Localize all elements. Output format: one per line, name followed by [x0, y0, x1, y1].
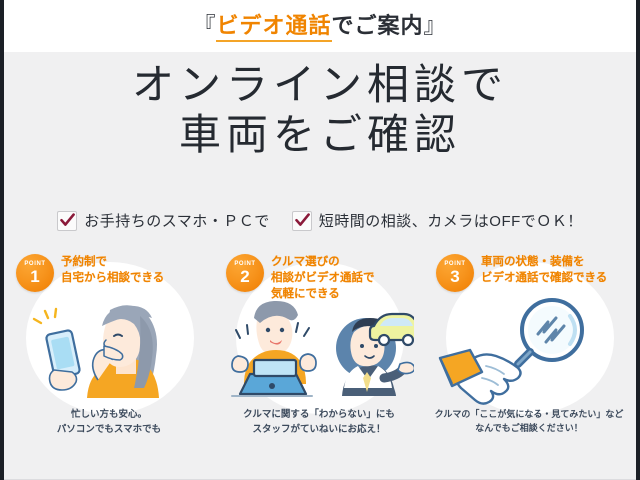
headline-line-2: 車両をご確認 [4, 110, 636, 160]
point-title-3: 車両の状態・装備を ビデオ通話で確認できる [481, 254, 607, 287]
check-icon [292, 211, 312, 231]
point-title-1: 予約制で 自宅から相談できる [61, 254, 164, 287]
caption-line: 忙しい方も安心。 [4, 408, 214, 423]
caption-line: なんでもご相談ください！ [424, 422, 634, 436]
promotional-banner: 『ビデオ通話でご案内』 オンライン相談で 車両をご確認 お手持ちのスマホ・ＰＣで [0, 0, 640, 480]
point-heading-3: POINT 3 車両の状態・装備を ビデオ通話で確認できる [436, 254, 607, 292]
point-badge-1: POINT 1 [16, 254, 54, 292]
badge-number: 3 [450, 268, 459, 285]
caption-line: クルマの「ここが気になる・見てみたい」など [424, 408, 634, 422]
caption-line: クルマに関する「わからない」にも [214, 408, 424, 423]
point-caption-2: クルマに関する「わからない」にも スタッフがていねいにお応え！ [214, 408, 424, 437]
point-title-line: 気軽にできる [271, 287, 375, 303]
point-title-line: ビデオ通話で確認できる [481, 271, 607, 287]
check-item-2: 短時間の相談、カメラはOFFでＯＫ！ [292, 210, 583, 231]
woman-with-smartphone-illustration [4, 292, 214, 404]
point-column-1: POINT 1 予約制で 自宅から相談できる [4, 248, 214, 448]
header-rest-text: でご案内 [332, 13, 424, 38]
footer-strip [4, 443, 636, 480]
check-label-1: お手持ちのスマホ・ＰＣで [84, 210, 270, 231]
point-badge-3: POINT 3 [436, 254, 474, 292]
headline-line-1: オンライン相談で [4, 60, 636, 110]
point-column-3: POINT 3 車両の状態・装備を ビデオ通話で確認できる [424, 248, 634, 448]
caption-line: スタッフがていねいにお応え！ [214, 423, 424, 438]
point-title-line: 予約制で [61, 255, 164, 271]
banner-header: 『ビデオ通話でご案内』 [4, 0, 636, 52]
point-title-2: クルマ選びの 相談がビデオ通話で 気軽にできる [271, 254, 375, 303]
banner-canvas: 『ビデオ通話でご案内』 オンライン相談で 車両をご確認 お手持ちのスマホ・ＰＣで [4, 0, 636, 480]
header-bracket-close: 』 [424, 13, 447, 38]
check-label-2: 短時間の相談、カメラはOFFでＯＫ！ [319, 210, 583, 231]
point-caption-3: クルマの「ここが気になる・見てみたい」など なんでもご相談ください！ [424, 408, 634, 436]
points-section: POINT 1 予約制で 自宅から相談できる [4, 248, 636, 448]
check-list: お手持ちのスマホ・ＰＣで 短時間の相談、カメラはOFFでＯＫ！ [4, 210, 636, 231]
header-title: 『ビデオ通話でご案内』 [193, 15, 446, 37]
check-icon [57, 211, 77, 231]
check-item-1: お手持ちのスマホ・ＰＣで [57, 210, 270, 231]
woman-at-laptop-and-staff-with-car-illustration [214, 300, 424, 412]
badge-number: 1 [30, 268, 39, 285]
point-title-line: 車両の状態・装備を [481, 255, 607, 271]
point-heading-1: POINT 1 予約制で 自宅から相談できる [16, 254, 164, 292]
point-badge-2: POINT 2 [226, 254, 264, 292]
point-heading-2: POINT 2 クルマ選びの 相談がビデオ通話で 気軽にできる [226, 254, 375, 303]
point-caption-1: 忙しい方も安心。 パソコンでもスマホでも [4, 408, 214, 437]
header-bracket-open: 『 [193, 13, 216, 38]
point-title-line: 自宅から相談できる [61, 271, 164, 287]
hand-with-magnifying-glass-illustration [424, 296, 634, 408]
banner-body: オンライン相談で 車両をご確認 お手持ちのスマホ・ＰＣで [4, 52, 636, 480]
point-column-2: POINT 2 クルマ選びの 相談がビデオ通話で 気軽にできる [214, 248, 424, 448]
point-title-line: クルマ選びの [271, 255, 375, 271]
headline: オンライン相談で 車両をご確認 [4, 60, 636, 159]
header-highlight-text: ビデオ通話 [216, 13, 331, 42]
point-title-line: 相談がビデオ通話で [271, 271, 375, 287]
caption-line: パソコンでもスマホでも [4, 423, 214, 438]
badge-number: 2 [240, 268, 249, 285]
